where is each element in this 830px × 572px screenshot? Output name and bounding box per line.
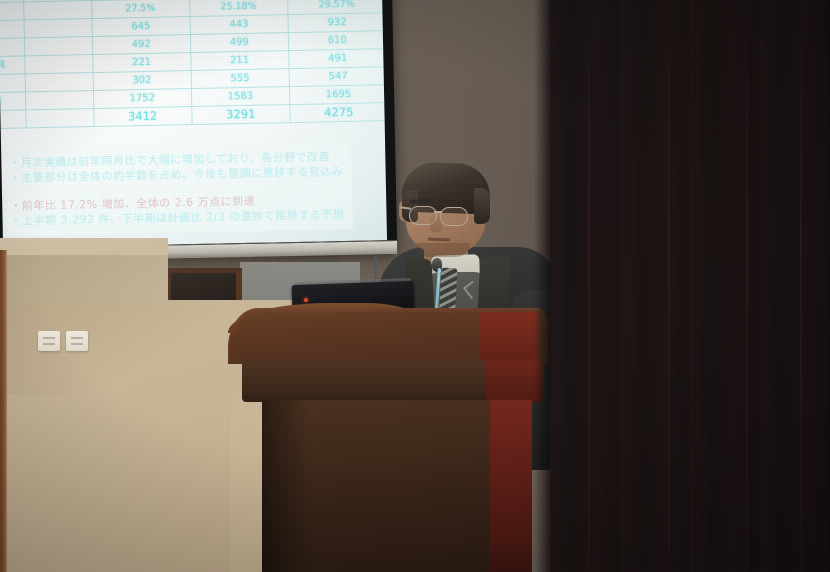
eyeglasses-bridge xyxy=(434,211,442,213)
curtain-fold xyxy=(668,0,670,572)
podium-base-accent xyxy=(490,400,532,572)
stage-curtain xyxy=(550,0,830,572)
chin-shadow xyxy=(416,243,470,257)
curtain-fold xyxy=(800,0,802,572)
hair-side-right xyxy=(474,188,490,224)
presentation-photograph: 構成比 4050 3841 5478 27.5% 25.18% 29.57% xyxy=(0,0,830,572)
curtain-fold xyxy=(588,0,590,572)
curtain-fold xyxy=(746,0,748,572)
nose xyxy=(430,214,442,232)
eyeglasses-lens-right xyxy=(440,207,468,226)
laptop-power-led-icon xyxy=(304,298,308,302)
podium-shadow xyxy=(262,400,310,572)
